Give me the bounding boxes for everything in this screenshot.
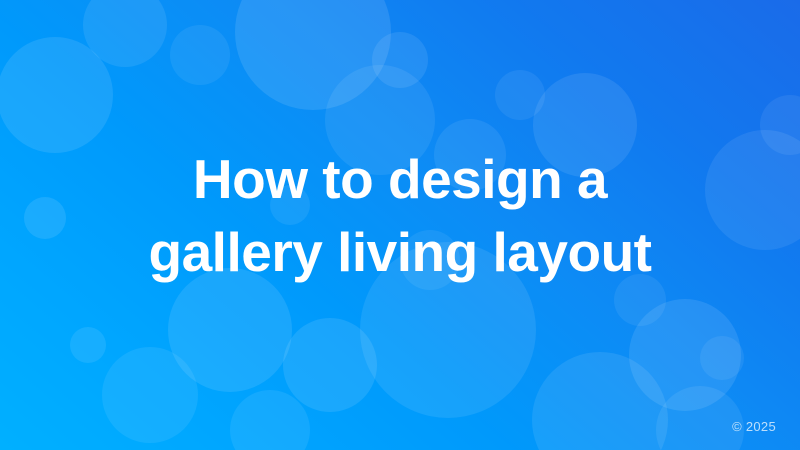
- bokeh-circle: [532, 352, 668, 450]
- title-slide: How to design a gallery living layout © …: [0, 0, 800, 450]
- page-title: How to design a gallery living layout: [40, 143, 760, 288]
- title-line-2: gallery living layout: [149, 221, 652, 283]
- title-block: How to design a gallery living layout: [0, 143, 800, 288]
- bokeh-circle: [629, 299, 741, 411]
- bokeh-circle: [700, 336, 744, 380]
- slide-footer: © 2025: [732, 418, 776, 436]
- bokeh-circle: [656, 386, 744, 450]
- bokeh-circle: [372, 32, 428, 88]
- bokeh-circle: [83, 0, 167, 67]
- bokeh-circle: [70, 327, 106, 363]
- bokeh-circle: [102, 347, 198, 443]
- bokeh-circle: [0, 37, 113, 153]
- copyright-text: © 2025: [732, 419, 776, 434]
- title-line-1: How to design a: [193, 148, 607, 210]
- bokeh-circle: [170, 25, 230, 85]
- bokeh-circle: [495, 70, 545, 120]
- bokeh-circle: [230, 390, 310, 450]
- bokeh-circle: [235, 0, 391, 110]
- bokeh-circle: [283, 318, 377, 412]
